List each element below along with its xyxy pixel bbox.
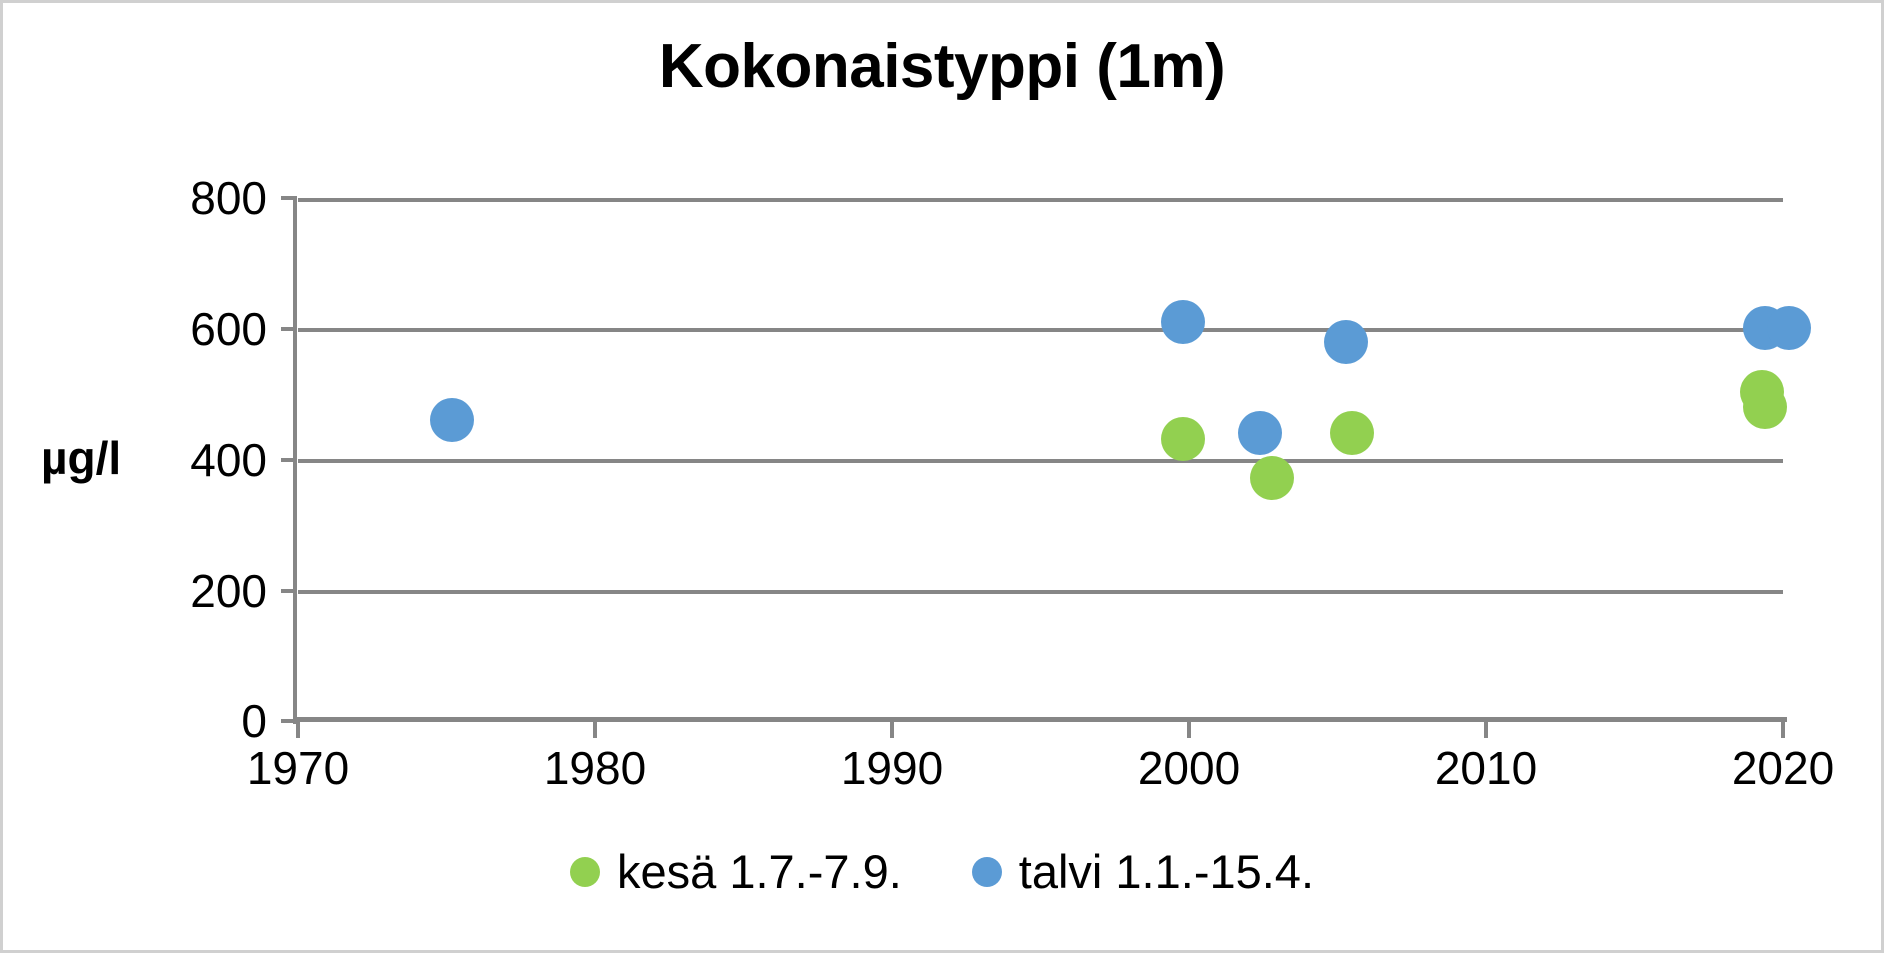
chart-title: Kokonaistyppi (1m) — [3, 31, 1881, 102]
legend-marker-blue-icon — [972, 857, 1002, 887]
x-tick-label-1970: 1970 — [198, 745, 398, 791]
x-tick-label-1980: 1980 — [495, 745, 695, 791]
y-tick-mark-800 — [281, 196, 294, 200]
y-tick-mark-600 — [281, 327, 294, 331]
data-point — [1330, 411, 1374, 455]
y-tick-label-200: 200 — [47, 568, 267, 614]
gridline-600 — [298, 328, 1783, 332]
x-tick-mark-2010 — [1484, 721, 1488, 738]
data-point — [430, 398, 474, 442]
x-tick-label-2010: 2010 — [1386, 745, 1586, 791]
x-tick-mark-2000 — [1187, 721, 1191, 738]
legend-item-kesa[interactable]: kesä 1.7.-7.9. — [570, 848, 902, 895]
y-tick-label-800: 800 — [47, 175, 267, 221]
y-tick-label-0: 0 — [47, 698, 267, 744]
legend-marker-green-icon — [570, 857, 600, 887]
x-tick-mark-1980 — [593, 721, 597, 738]
data-point — [1161, 417, 1205, 461]
legend-label-talvi: talvi 1.1.-15.4. — [1019, 848, 1314, 895]
y-tick-label-600: 600 — [47, 306, 267, 352]
x-tick-label-1990: 1990 — [792, 745, 992, 791]
y-tick-label-400: 400 — [47, 437, 267, 483]
x-tick-mark-1990 — [890, 721, 894, 738]
x-tick-label-2020: 2020 — [1683, 745, 1883, 791]
data-point — [1743, 385, 1787, 429]
data-point — [1238, 411, 1282, 455]
chart-legend: kesä 1.7.-7.9. talvi 1.1.-15.4. — [3, 848, 1881, 895]
legend-item-talvi[interactable]: talvi 1.1.-15.4. — [972, 848, 1314, 895]
y-tick-mark-0 — [281, 719, 294, 723]
y-tick-mark-400 — [281, 458, 294, 462]
x-tick-mark-2020 — [1781, 721, 1785, 738]
legend-label-kesa: kesä 1.7.-7.9. — [617, 848, 902, 895]
data-point — [1161, 300, 1205, 344]
data-point — [1324, 320, 1368, 364]
gridline-200 — [298, 590, 1783, 594]
data-point — [1767, 306, 1811, 350]
gridline-800 — [298, 198, 1783, 202]
x-tick-label-2000: 2000 — [1089, 745, 1289, 791]
plot-area — [298, 198, 1783, 721]
x-tick-mark-1970 — [296, 721, 300, 738]
chart-container: Kokonaistyppi (1m) µg/l 800 600 400 200 … — [0, 0, 1884, 953]
gridline-400 — [298, 459, 1783, 463]
data-point — [1250, 456, 1294, 500]
y-tick-mark-200 — [281, 589, 294, 593]
